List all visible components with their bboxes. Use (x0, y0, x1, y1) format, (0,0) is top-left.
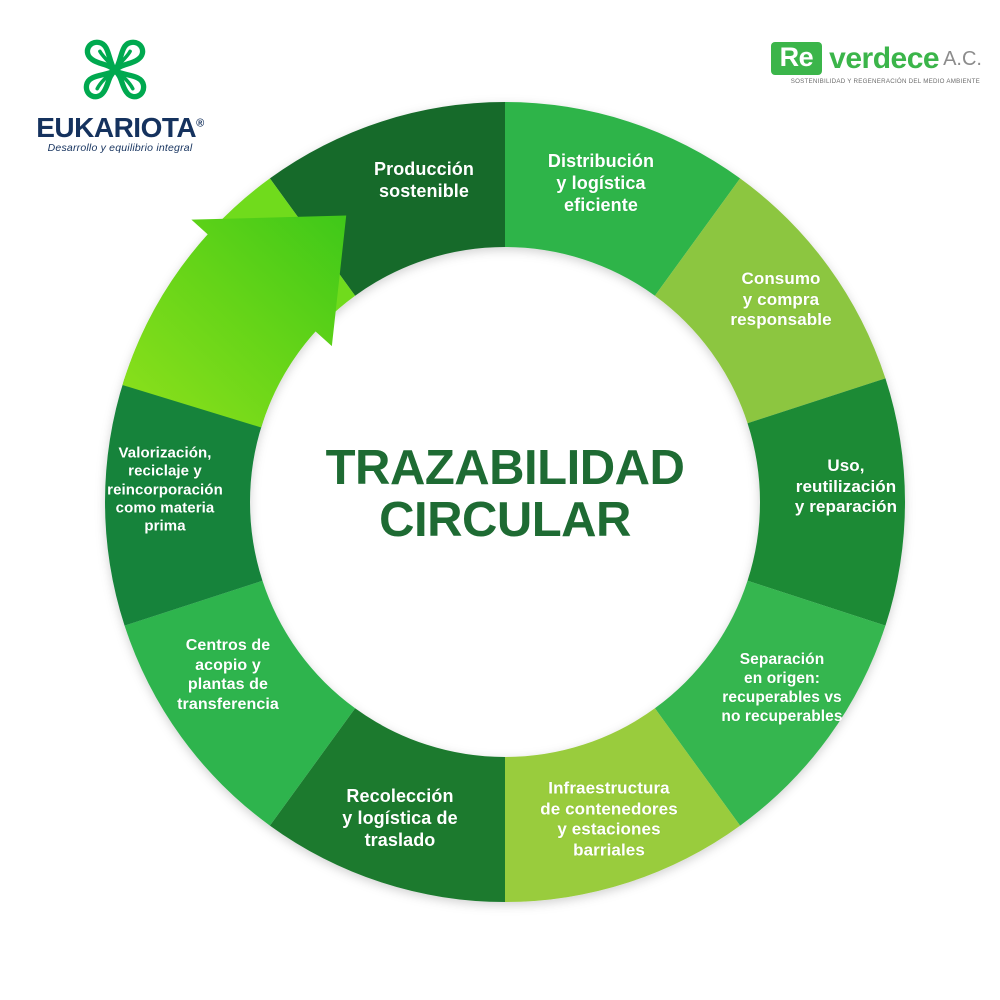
title-line-1: TRAZABILIDAD (275, 443, 735, 495)
infographic-canvas: EUKARIOTA® Desarrollo y equilibrio integ… (0, 0, 1000, 1000)
page-title: TRAZABILIDAD CIRCULAR (275, 443, 735, 547)
title-line-2: CIRCULAR (275, 495, 735, 547)
